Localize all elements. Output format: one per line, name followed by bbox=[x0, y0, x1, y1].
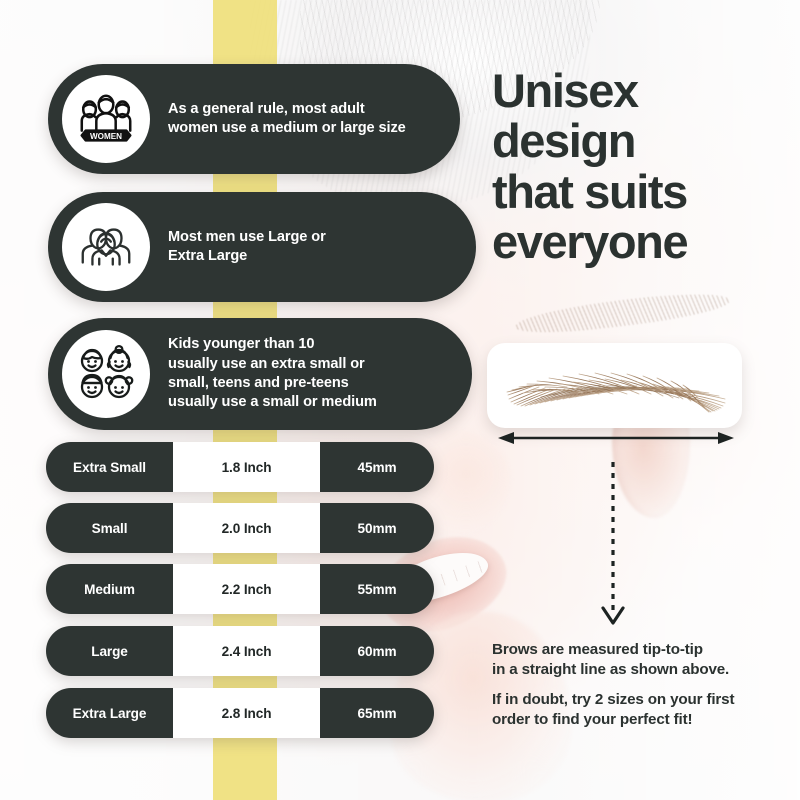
eyebrow-sample-card bbox=[487, 343, 742, 428]
size-row: Small 2.0 Inch 50mm bbox=[46, 503, 434, 553]
size-row-mm: 55mm bbox=[320, 564, 434, 614]
size-row-mm: 60mm bbox=[320, 626, 434, 676]
size-row-inch: 2.2 Inch bbox=[173, 564, 320, 614]
info-card-women: WOMEN As a general rule, most adult wome… bbox=[48, 64, 460, 174]
size-row-mm: 45mm bbox=[320, 442, 434, 492]
size-row-name: Extra Small bbox=[46, 442, 173, 492]
size-row: Medium 2.2 Inch 55mm bbox=[46, 564, 434, 614]
women-banner-label: WOMEN bbox=[90, 132, 122, 141]
kids-group-icon bbox=[62, 330, 150, 418]
eyebrow-sample-image bbox=[505, 359, 727, 413]
sizing-advice-note: If in doubt, try 2 sizes on your first o… bbox=[492, 690, 792, 730]
size-row-mm: 65mm bbox=[320, 688, 434, 738]
info-card-kids-text: Kids younger than 10 usually use an extr… bbox=[168, 335, 395, 413]
women-group-icon: WOMEN bbox=[62, 75, 150, 163]
size-row-inch: 2.4 Inch bbox=[173, 626, 320, 676]
size-row: Extra Small 1.8 Inch 45mm bbox=[46, 442, 434, 492]
info-card-men-text: Most men use Large or Extra Large bbox=[168, 228, 344, 267]
brow-size-guide-infographic: WOMEN As a general rule, most adult wome… bbox=[0, 0, 800, 800]
size-row-name: Medium bbox=[46, 564, 173, 614]
men-group-icon bbox=[62, 203, 150, 291]
size-row-name: Extra Large bbox=[46, 688, 173, 738]
size-row-name: Large bbox=[46, 626, 173, 676]
dashed-down-arrow-icon bbox=[595, 460, 631, 630]
info-card-kids: Kids younger than 10 usually use an extr… bbox=[48, 318, 472, 430]
size-row: Large 2.4 Inch 60mm bbox=[46, 626, 434, 676]
page-headline: Unisex design that suits everyone bbox=[492, 66, 792, 267]
size-row-inch: 1.8 Inch bbox=[173, 442, 320, 492]
size-row-inch: 2.8 Inch bbox=[173, 688, 320, 738]
info-card-men: Most men use Large or Extra Large bbox=[48, 192, 476, 302]
measurement-note: Brows are measured tip-to-tip in a strai… bbox=[492, 640, 792, 680]
size-row-mm: 50mm bbox=[320, 503, 434, 553]
info-card-women-text: As a general rule, most adult women use … bbox=[168, 100, 424, 139]
size-row-name: Small bbox=[46, 503, 173, 553]
size-row: Extra Large 2.8 Inch 65mm bbox=[46, 688, 434, 738]
size-row-inch: 2.0 Inch bbox=[173, 503, 320, 553]
double-headed-arrow-icon bbox=[496, 430, 736, 446]
